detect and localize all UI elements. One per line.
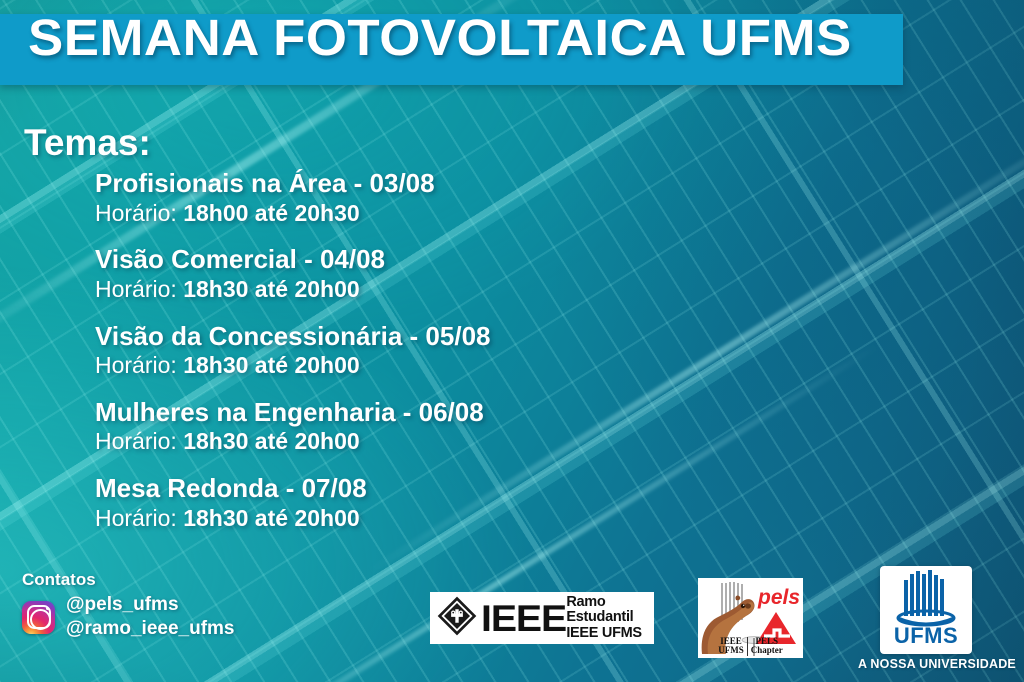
ieee-diamond-icon [436,595,478,642]
schedule-item-title: Mesa Redonda - 07/08 [95,473,715,504]
schedule-item-title: Visão Comercial - 04/08 [95,244,715,275]
schedule-item: Profisionais na Área - 03/08 Horário: 18… [95,168,715,227]
page-title: SEMANA FOTOVOLTAICA UFMS [28,12,852,63]
pels-logo: pels IEEE UFMS PELS Chapter [698,578,803,658]
ieee-wordmark: IEEE [481,600,566,637]
schedule-item: Visão da Concessionária - 05/08 Horário:… [95,321,715,380]
pels-footer-left: IEEE UFMS [715,637,748,656]
poster-canvas: SEMANA FOTOVOLTAICA UFMS Temas: Profisio… [0,0,1024,682]
schedule-time-label: Horário: [95,200,177,226]
schedule-item-title: Mulheres na Engenharia - 06/08 [95,397,715,428]
ufms-tagline: A NOSSA UNIVERSIDADE [858,657,998,671]
schedule-time-value: 18h30 até 20h00 [183,276,359,302]
schedule-time-value: 18h30 até 20h00 [183,352,359,378]
schedule-item: Mesa Redonda - 07/08 Horário: 18h30 até … [95,473,715,532]
pels-footer: IEEE UFMS PELS Chapter [698,637,803,656]
ieee-logo: IEEE Ramo Estudantil IEEE UFMS [430,592,654,644]
pels-wordmark: pels [757,586,800,609]
handles-list: @pels_ufms @ramo_ieee_ufms [66,593,235,642]
schedule-item-title: Profisionais na Área - 03/08 [95,168,715,199]
schedule-time-label: Horário: [95,428,177,454]
schedule-list: Profisionais na Área - 03/08 Horário: 18… [95,168,715,549]
contacts-block: Contatos @pels_ufms @ramo_ieee_ufms [22,570,235,642]
ieee-subtitle-line1: Ramo [566,594,605,610]
contacts-heading: Contatos [22,570,235,590]
schedule-item: Mulheres na Engenharia - 06/08 Horário: … [95,397,715,456]
schedule-time-value: 18h30 até 20h00 [183,428,359,454]
pels-footer-right: PELS Chapter [748,637,786,656]
instagram-handle-ramo[interactable]: @ramo_ieee_ufms [66,617,235,641]
ieee-subtitle: Ramo Estudantil IEEE UFMS [566,595,641,640]
schedule-item-time: Horário: 18h30 até 20h00 [95,428,715,456]
ufms-logo: UFMS [880,566,972,654]
schedule-time-label: Horário: [95,276,177,302]
ufms-wordmark: UFMS [880,623,972,649]
schedule-item-time: Horário: 18h30 até 20h00 [95,505,715,533]
contacts-row: @pels_ufms @ramo_ieee_ufms [22,593,235,642]
instagram-frame [27,605,51,629]
schedule-item: Visão Comercial - 04/08 Horário: 18h30 a… [95,244,715,303]
schedule-item-time: Horário: 18h00 até 20h30 [95,200,715,228]
ieee-subtitle-line3: IEEE UFMS [566,625,641,641]
schedule-item-time: Horário: 18h30 até 20h00 [95,276,715,304]
instagram-icon[interactable] [22,601,55,634]
ieee-subtitle-line2: Estudantil [566,609,633,625]
section-label-temas: Temas: [24,122,151,164]
schedule-time-value: 18h00 até 20h30 [183,200,359,226]
schedule-item-title: Visão da Concessionária - 05/08 [95,321,715,352]
pels-footer-left-line2: UFMS [718,646,744,656]
instagram-handle-pels[interactable]: @pels_ufms [66,593,235,617]
pels-footer-right-line2: Chapter [751,646,783,656]
schedule-time-value: 18h30 até 20h00 [183,505,359,531]
schedule-time-label: Horário: [95,505,177,531]
schedule-item-time: Horário: 18h30 até 20h00 [95,352,715,380]
schedule-time-label: Horário: [95,352,177,378]
